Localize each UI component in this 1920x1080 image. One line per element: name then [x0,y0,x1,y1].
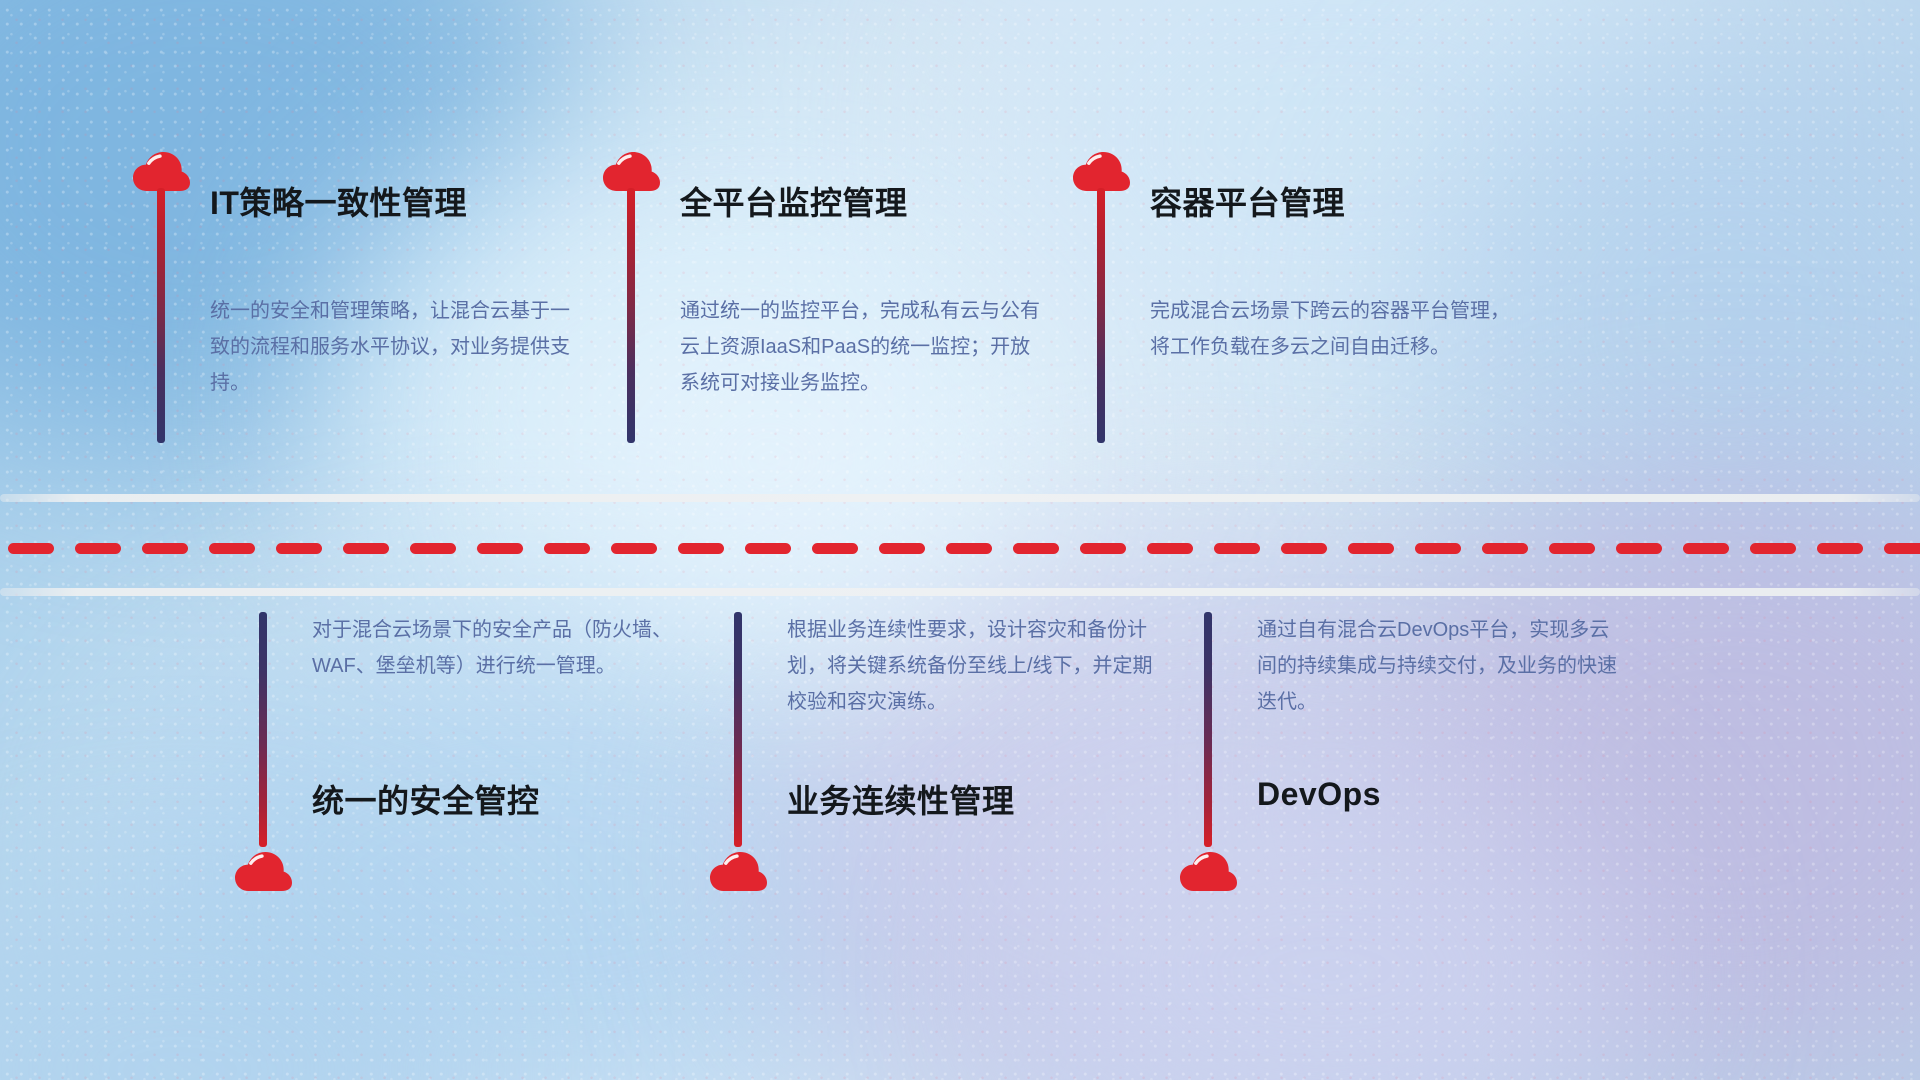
dash-segment [1147,543,1193,554]
bottom-item-1-description: 对于混合云场景下的安全产品（防火墙、WAF、堡垒机等）进行统一管理。 [312,612,682,684]
cloud-icon [132,150,190,192]
dash-segment [1549,543,1595,554]
background-vignette [0,0,1920,1080]
cloud-icon [602,150,660,192]
dash-segment [1080,543,1126,554]
dash-segment [678,543,724,554]
bottom-item-3-description: 通过自有混合云DevOps平台，实现多云间的持续集成与持续交付，及业务的快速迭代… [1257,612,1627,720]
dash-segment [812,543,858,554]
bottom-item-3-title: DevOps [1257,776,1381,813]
top-item-1-description: 统一的安全和管理策略，让混合云基于一致的流程和服务水平协议，对业务提供支持。 [210,293,580,401]
dash-segment [1348,543,1394,554]
infographic-canvas: IT策略一致性管理 统一的安全和管理策略，让混合云基于一致的流程和服务水平协议，… [0,0,1920,1080]
dash-segment [1884,543,1920,554]
dash-segment [75,543,121,554]
dash-segment [1616,543,1662,554]
connector-line [1097,188,1105,443]
top-item-3-description: 完成混合云场景下跨云的容器平台管理，将工作负载在多云之间自由迁移。 [1150,293,1520,365]
connector-line [157,188,165,443]
dash-segment [1750,543,1796,554]
bottom-item-1-title: 统一的安全管控 [312,776,540,822]
divider-bar-top [0,494,1920,502]
dash-segment [410,543,456,554]
dash-segment [1817,543,1863,554]
dash-segment [142,543,188,554]
dash-segment [1415,543,1461,554]
top-item-2-description: 通过统一的监控平台，完成私有云与公有云上资源IaaS和PaaS的统一监控；开放系… [680,293,1050,401]
top-item-1-title: IT策略一致性管理 [210,178,467,224]
dash-segment [1214,543,1260,554]
dash-segment [276,543,322,554]
bottom-item-2-title: 业务连续性管理 [787,776,1015,822]
connector-line [1204,612,1212,847]
dash-segment [8,543,54,554]
dash-segment [544,543,590,554]
dash-segment [343,543,389,554]
cloud-icon [1072,150,1130,192]
dash-segment [946,543,992,554]
dash-segment [745,543,791,554]
cloud-icon [1179,850,1237,892]
dash-segment [1013,543,1059,554]
dashed-divider [0,542,1920,554]
connector-line [627,188,635,443]
divider-bar-bottom [0,588,1920,596]
top-item-3-title: 容器平台管理 [1150,178,1345,224]
dash-segment [1281,543,1327,554]
cloud-icon [234,850,292,892]
connector-line [734,612,742,847]
cloud-icon [709,850,767,892]
dash-segment [209,543,255,554]
connector-line [259,612,267,847]
dash-segment [1482,543,1528,554]
top-item-2-title: 全平台监控管理 [680,178,908,224]
dash-segment [477,543,523,554]
dash-segment [1683,543,1729,554]
dash-segment [879,543,925,554]
bottom-item-2-description: 根据业务连续性要求，设计容灾和备份计划，将关键系统备份至线上/线下，并定期校验和… [787,612,1157,720]
dash-segment [611,543,657,554]
